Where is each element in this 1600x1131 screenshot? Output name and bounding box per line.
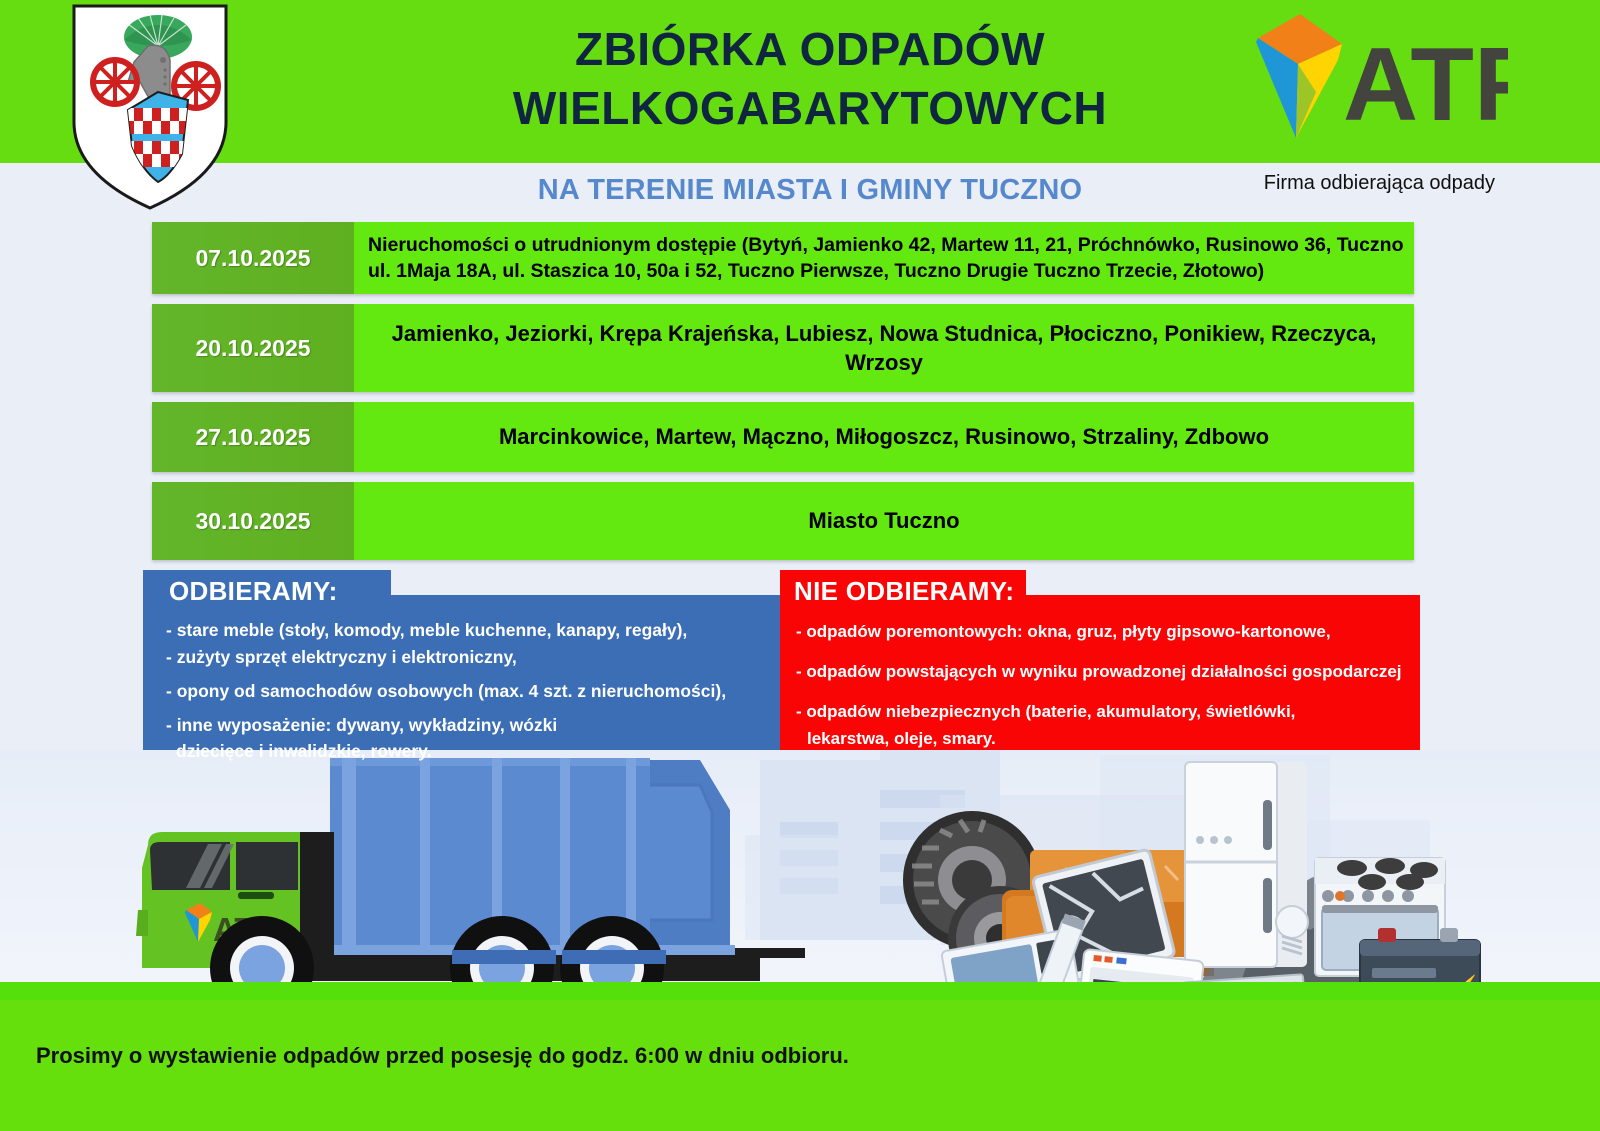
row-date: 20.10.2025 (152, 304, 354, 392)
page-title: ZBIÓRKA ODPADÓW WIELKOGABARYTOWYCH (430, 20, 1190, 138)
list-item: lekarstwa, oleje, smary. (796, 727, 1406, 751)
table-row: 07.10.2025 Nieruchomości o utrudnionym d… (152, 222, 1414, 294)
list-item: - inne wyposażenie: dywany, wykładziny, … (166, 713, 766, 738)
row-area: Miasto Tuczno (354, 482, 1414, 560)
reject-list: - odpadów poremontowych: okna, gruz, pły… (796, 620, 1406, 767)
row-area: Marcinkowice, Martew, Mączno, Miłogoszcz… (354, 402, 1414, 472)
footer-notice: Prosimy o wystawienie odpadów przed pose… (36, 1043, 849, 1069)
accept-title: ODBIERAMY: (169, 576, 338, 607)
subtitle: NA TERENIE MIASTA I GMINY TUCZNO (430, 174, 1190, 207)
row-date: 27.10.2025 (152, 402, 354, 472)
garbage-truck-illustration: ATF (0, 750, 1600, 1000)
list-item: dziecięce i inwalidzkie, rowery. (166, 739, 766, 764)
table-row: 20.10.2025 Jamienko, Jeziorki, Krępa Kra… (152, 304, 1414, 392)
illustration-scene: ATF (0, 750, 1600, 1000)
firm-note: Firma odbierająca odpady (1264, 172, 1495, 195)
title-line-1: ZBIÓRKA ODPADÓW (430, 20, 1190, 79)
row-date: 07.10.2025 (152, 222, 354, 294)
reject-title: NIE ODBIERAMY: (794, 576, 1014, 607)
accept-list: - stare meble (stoły, komody, meble kuch… (166, 618, 766, 766)
coat-of-arms-icon (70, 4, 230, 210)
list-item: - odpadów niebezpiecznych (baterie, akum… (796, 700, 1406, 724)
grass-strip (0, 982, 1600, 1000)
list-item: - stare meble (stoły, komody, meble kuch… (166, 618, 766, 643)
table-row: 30.10.2025 Miasto Tuczno (152, 482, 1414, 560)
list-item: - opony od samochodów osobowych (max. 4 … (166, 679, 766, 704)
title-line-2: WIELKOGABARYTOWYCH (430, 79, 1190, 138)
list-item: - odpadów poremontowych: okna, gruz, pły… (796, 620, 1406, 644)
row-date: 30.10.2025 (152, 482, 354, 560)
atf-cube-icon (1256, 14, 1342, 138)
list-item: - zużyty sprzęt elektryczny i elektronic… (166, 645, 766, 670)
list-item: - odpadów powstających w wyniku prowadzo… (796, 660, 1406, 684)
atf-logo-text: ATF (1343, 27, 1508, 143)
table-row: 27.10.2025 Marcinkowice, Martew, Mączno,… (152, 402, 1414, 472)
row-area: Nieruchomości o utrudnionym dostępie (By… (354, 222, 1414, 294)
row-area: Jamienko, Jeziorki, Krępa Krajeńska, Lub… (354, 304, 1414, 392)
poster-root: ZBIÓRKA ODPADÓW WIELKOGABARYTOWYCH ATF N… (0, 0, 1600, 1131)
atf-logo: ATF (1238, 8, 1508, 148)
schedule-table: 07.10.2025 Nieruchomości o utrudnionym d… (152, 222, 1414, 570)
